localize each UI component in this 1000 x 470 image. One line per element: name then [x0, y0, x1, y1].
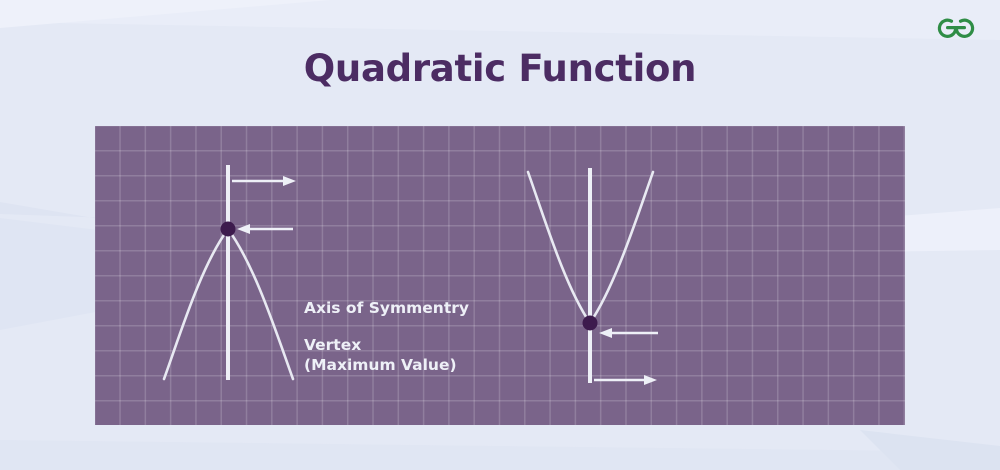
- left-vertex-label: Vertex (Maximum Value): [304, 335, 457, 375]
- left-vertex-arrow: [237, 224, 293, 234]
- screenshot-root: Quadratic Function: [0, 0, 1000, 470]
- right-vertex-dot: [583, 316, 598, 331]
- right-axis-arrow: [594, 375, 657, 385]
- parabola-graphics: [95, 126, 905, 425]
- left-vertex-label-line2: (Maximum Value): [304, 355, 457, 375]
- page-title: Quadratic Function: [0, 47, 1000, 90]
- left-vertex-label-line1: Vertex: [304, 335, 457, 355]
- right-vertex-arrow: [599, 328, 658, 338]
- geeksforgeeks-logo-icon[interactable]: [931, 14, 981, 40]
- left-axis-of-symmetry-label: Axis of Symmentry: [304, 298, 469, 318]
- left-vertex-dot: [221, 222, 236, 237]
- quadratic-function-diagram-panel: Axis of Symmentry Vertex (Maximum Value)…: [95, 126, 905, 425]
- left-axis-arrow: [232, 176, 296, 186]
